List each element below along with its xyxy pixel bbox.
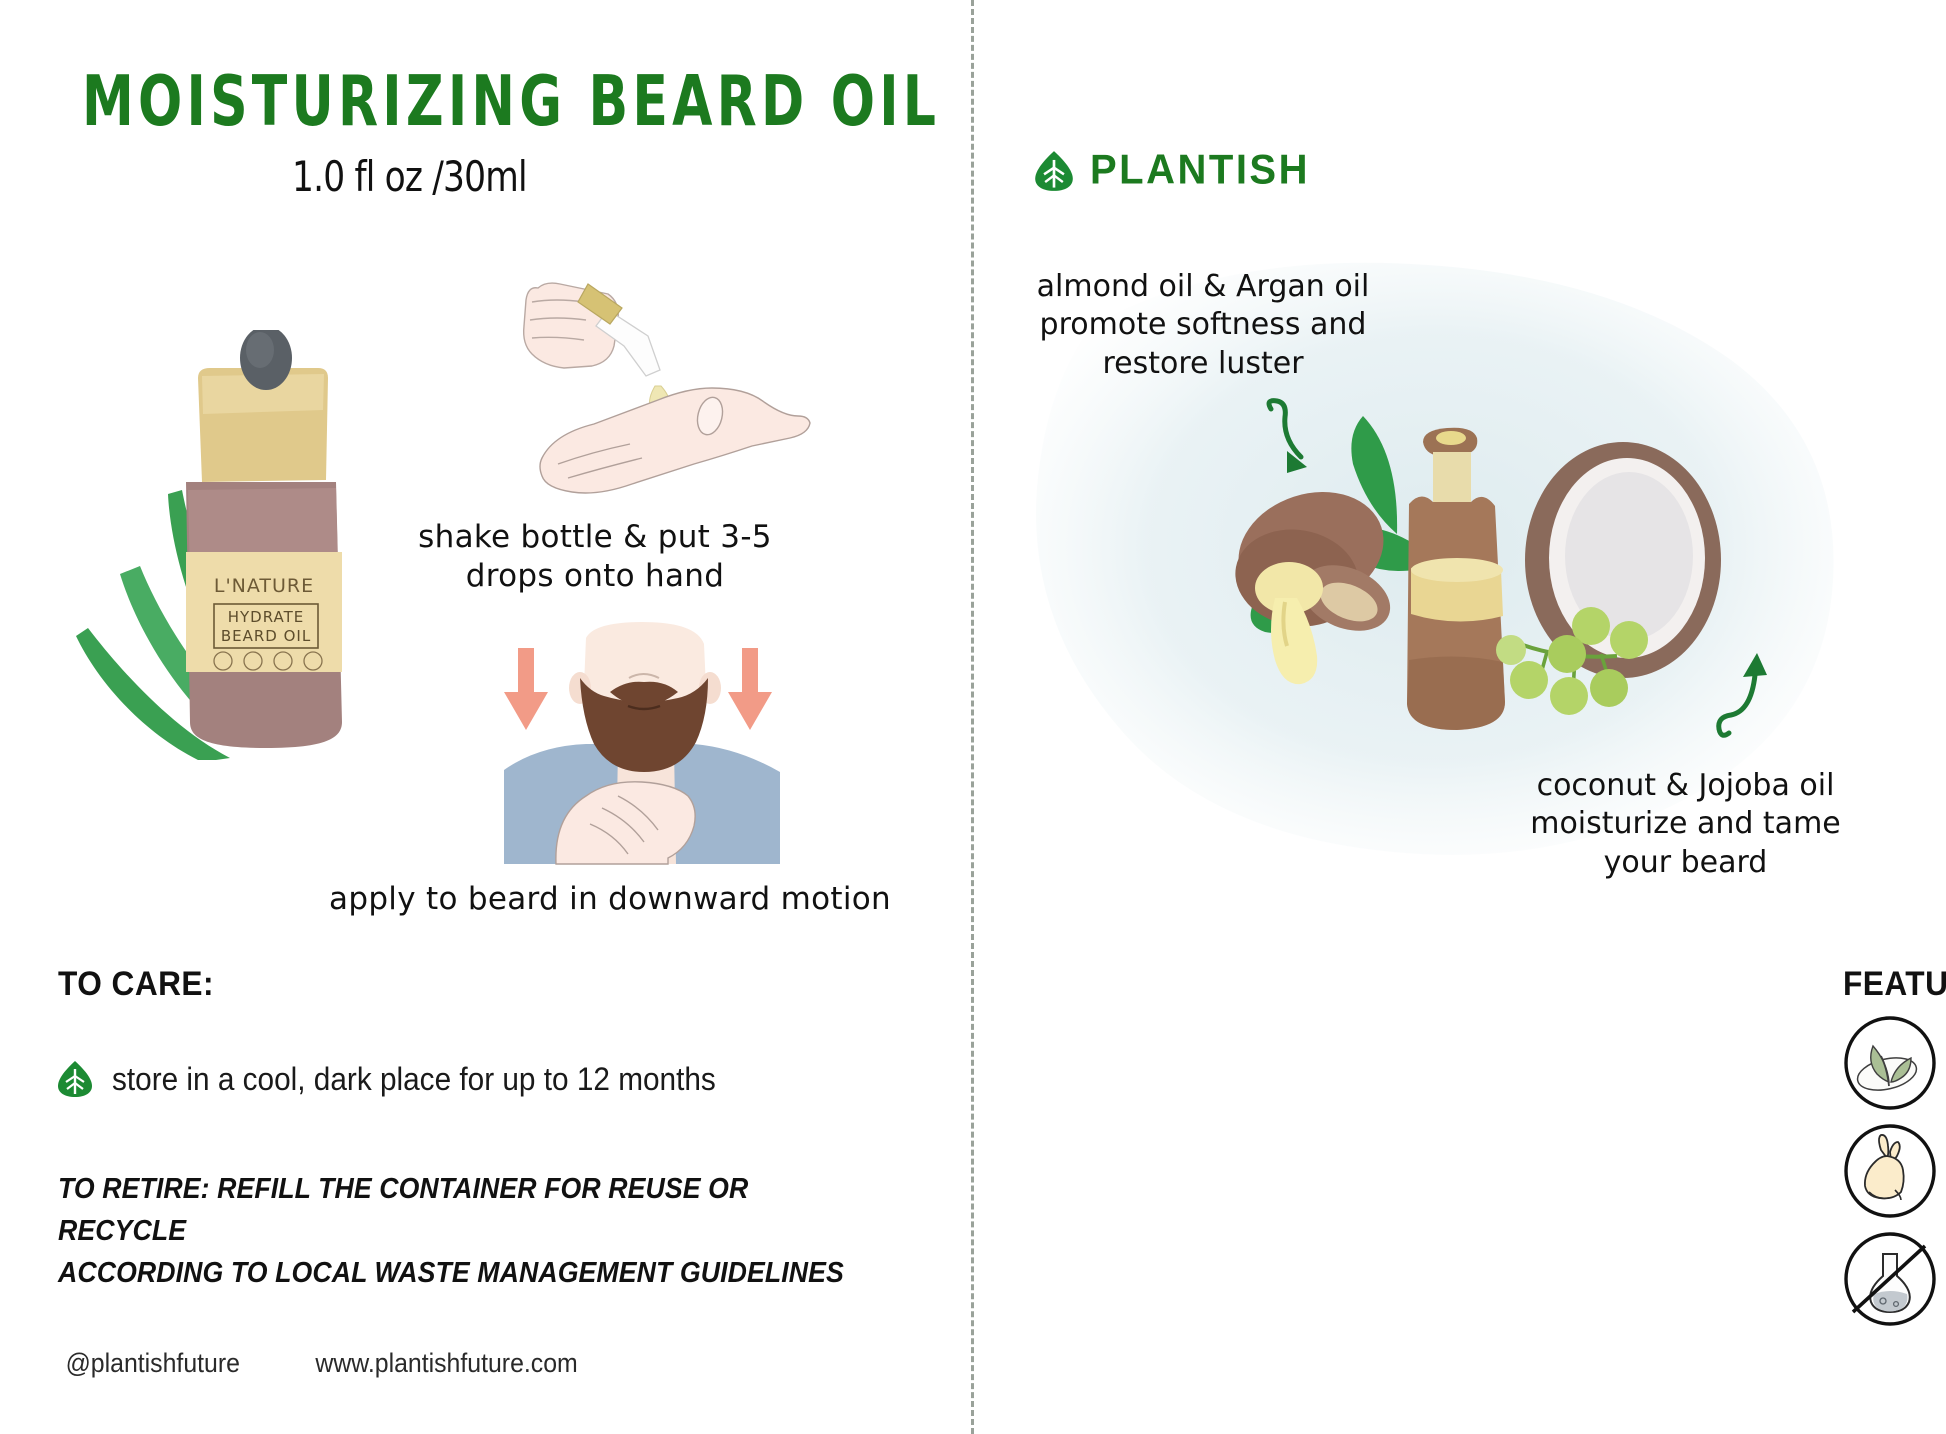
dropper-hand-icon xyxy=(498,258,828,508)
sprout-icon xyxy=(1843,1016,1937,1110)
ingredient-note-bottom-line-2: moisturize and tame xyxy=(1530,806,1841,841)
ingredients-illustration xyxy=(1171,320,1791,790)
website-url[interactable]: www.plantishfuture.com xyxy=(315,1348,577,1379)
oil-bottle-icon xyxy=(1407,428,1505,730)
care-item-label: store in a cool, dark place for up to 12… xyxy=(112,1061,716,1098)
leaf-icon xyxy=(58,1060,92,1098)
arrow-down-icon xyxy=(728,648,772,730)
feature-item-vegan: vegan & 100% natural xyxy=(1843,1016,1946,1110)
page-title: MOISTURIZING BEARD OIL xyxy=(82,60,940,142)
footer: @plantishfuture www.plantishfuture.com xyxy=(58,1348,589,1379)
ingredient-note-bottom: coconut & Jojoba oil moisturize and tame… xyxy=(1513,767,1858,882)
ingredient-note-bottom-line-1: coconut & Jojoba oil xyxy=(1537,768,1835,803)
retire-instructions: TO RETIRE: REFILL THE CONTAINER FOR REUS… xyxy=(58,1168,877,1294)
step-1-caption-line-2: drops onto hand xyxy=(466,558,724,594)
svg-text:HYDRATE: HYDRATE xyxy=(228,608,305,626)
retire-line-1: TO RETIRE: REFILL THE CONTAINER FOR REUS… xyxy=(58,1173,748,1247)
social-handle[interactable]: @plantishfuture xyxy=(66,1348,240,1379)
feature-item-paraben-free: paraben free xyxy=(1843,1232,1946,1326)
left-panel: MOISTURIZING BEARD OIL 1.0 fl oz /30ml xyxy=(0,0,971,1434)
brand-name: PLANTISH xyxy=(1090,147,1310,194)
ingredient-note-top-line-1: almond oil & Argan oil xyxy=(1037,269,1370,304)
care-heading: TO CARE: xyxy=(58,965,214,1004)
brand-logo: PLANTISH xyxy=(1035,148,1310,193)
feature-item-cruelty-free: not tested on animals xyxy=(1843,1124,1946,1218)
arrow-down-icon xyxy=(504,648,548,730)
step-2-caption: apply to beard in downward motion xyxy=(250,880,970,919)
rabbit-icon xyxy=(1843,1124,1937,1218)
care-item: store in a cool, dark place for up to 12… xyxy=(58,1060,761,1098)
curved-arrow-up-icon xyxy=(1713,645,1781,741)
no-flask-icon xyxy=(1843,1232,1937,1326)
panel-divider xyxy=(971,0,974,1434)
label-sheet: MOISTURIZING BEARD OIL 1.0 fl oz /30ml xyxy=(0,0,1946,1434)
step-1-caption-line-1: shake bottle & put 3-5 xyxy=(418,519,772,555)
ingredient-note-bottom-line-3: your beard xyxy=(1604,845,1768,880)
right-panel: PLANTISH almond oil & Argan oil promote … xyxy=(971,0,1946,1434)
curved-arrow-down-icon xyxy=(1261,395,1329,485)
product-volume: 1.0 fl oz /30ml xyxy=(292,152,527,201)
leaf-drop-icon xyxy=(1035,150,1073,192)
bottle-icon: L'NATURE HYDRATE BEARD OIL xyxy=(186,330,342,748)
svg-text:L'NATURE: L'NATURE xyxy=(214,575,314,597)
features-heading: FEATURES: xyxy=(1843,965,1946,1004)
svg-text:BEARD OIL: BEARD OIL xyxy=(221,627,311,645)
retire-line-2: ACCORDING TO LOCAL WASTE MANAGEMENT GUID… xyxy=(58,1257,844,1289)
step-1-caption: shake bottle & put 3-5 drops onto hand xyxy=(330,518,860,596)
